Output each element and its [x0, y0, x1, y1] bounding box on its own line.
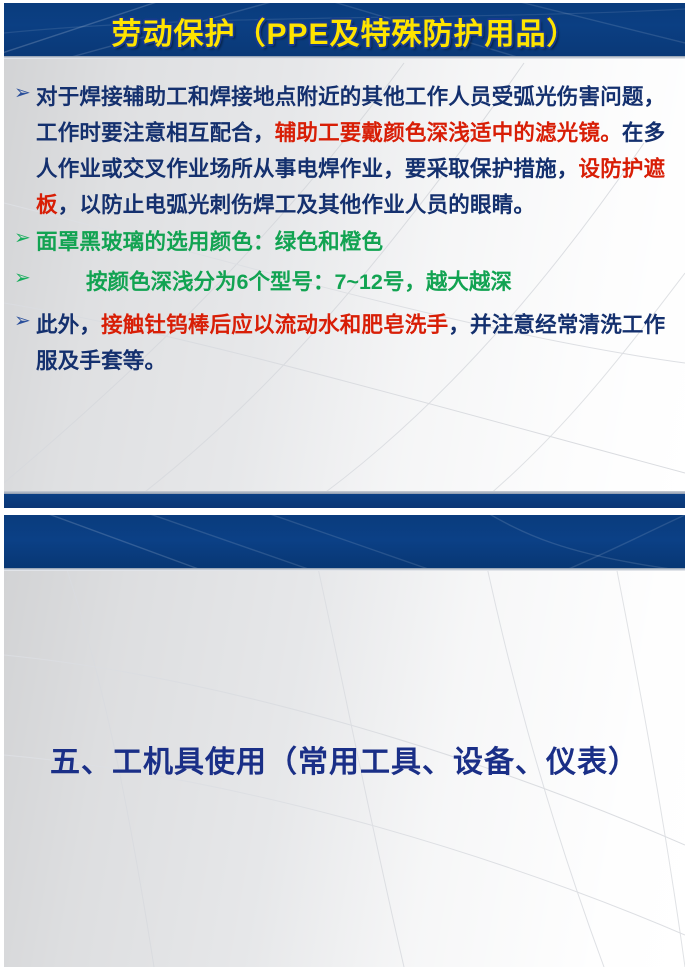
- header-underline: [4, 568, 685, 571]
- slide-deck: 劳动保护（PPE及特殊防护用品） ➢ 对于焊接辅助工和焊接地点附近的其他工作人员…: [0, 0, 694, 970]
- bullet-item-1-text: 对于焊接辅助工和焊接地点附近的其他工作人员受弧光伤害问题，工作时要注意相互配合，…: [36, 79, 677, 223]
- arrow-bullet-icon: ➢: [14, 307, 31, 335]
- slide-ppe-body: ➢ 对于焊接辅助工和焊接地点附近的其他工作人员受弧光伤害问题，工作时要注意相互配…: [4, 59, 685, 494]
- arrow-bullet-icon: ➢: [14, 224, 31, 252]
- bullet-2-run-1: 面罩黑玻璃的选用颜色：绿色和橙色: [36, 230, 383, 254]
- header-line-decoration: [4, 515, 685, 571]
- bullet-item-4-text: 此外，接触钍钨棒后应以流动水和肥皂洗手，并注意经常清洗工作服及手套等。: [36, 307, 677, 379]
- slide-section-title: 五、工机具使用（常用工具、设备、仪表）: [4, 737, 685, 781]
- arrow-bullet-icon: ➢: [14, 264, 31, 292]
- bullet-item-4: ➢ 此外，接触钍钨棒后应以流动水和肥皂洗手，并注意经常清洗工作服及手套等。: [14, 307, 677, 379]
- bullet-item-3: ➢ 按颜色深浅分为6个型号：7~12号，越大越深: [14, 264, 677, 300]
- bullet-1-run-2: 辅助工要戴颜色深浅适中的滤光镜。: [275, 121, 622, 145]
- slide-section-header-band: [4, 515, 685, 571]
- slide-section: 五、工机具使用（常用工具、设备、仪表）: [4, 515, 685, 967]
- bullet-4-run-1: 此外，: [36, 313, 101, 337]
- bullet-item-2: ➢ 面罩黑玻璃的选用颜色：绿色和橙色: [14, 224, 677, 260]
- arrow-bullet-icon: ➢: [14, 79, 31, 107]
- bullet-item-2-text: 面罩黑玻璃的选用颜色：绿色和橙色: [36, 224, 677, 260]
- slide-ppe-title: 劳动保护（PPE及特殊防护用品）: [4, 9, 685, 53]
- bullet-3-run-1: 按颜色深浅分为6个型号：7~12号，越大越深: [86, 270, 512, 294]
- slide-ppe-header-band: 劳动保护（PPE及特殊防护用品）: [4, 3, 685, 59]
- bullet-item-1: ➢ 对于焊接辅助工和焊接地点附近的其他工作人员受弧光伤害问题，工作时要注意相互配…: [14, 79, 677, 223]
- bullet-4-run-2: 接触钍钨棒后应以流动水和肥皂洗手: [101, 313, 448, 337]
- slide-ppe-footer-band: [4, 494, 685, 508]
- slide-ppe: 劳动保护（PPE及特殊防护用品） ➢ 对于焊接辅助工和焊接地点附近的其他工作人员…: [4, 3, 685, 508]
- bullet-1-run-5: ，以防止电弧光刺伤焊工及其他作业人员的眼睛。: [58, 193, 535, 217]
- bullet-item-3-text: 按颜色深浅分为6个型号：7~12号，越大越深: [36, 264, 677, 300]
